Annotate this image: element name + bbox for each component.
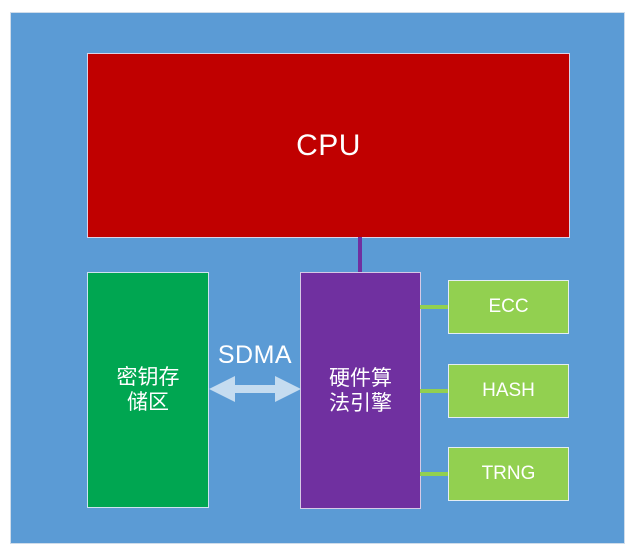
block-hardware-algorithm-engine-label-line2: 法引擎 bbox=[329, 391, 392, 415]
block-hardware-algorithm-engine-label-line1: 硬件算 bbox=[329, 366, 392, 390]
block-cpu[interactable]: CPU bbox=[87, 53, 570, 238]
connector-engine-to-trng bbox=[420, 472, 449, 476]
block-hash[interactable]: HASH bbox=[448, 364, 569, 418]
block-ecc[interactable]: ECC bbox=[448, 280, 569, 334]
connector-engine-to-hash bbox=[420, 389, 449, 393]
diagram-canvas: CPU 密钥存 储区 硬件算 法引擎 SDMA EC bbox=[0, 0, 639, 557]
block-trng-label: TRNG bbox=[482, 463, 536, 485]
diagram-frame: CPU 密钥存 储区 硬件算 法引擎 SDMA EC bbox=[11, 13, 624, 543]
sdma-connector-label: SDMA bbox=[207, 343, 303, 368]
block-hardware-algorithm-engine[interactable]: 硬件算 法引擎 bbox=[300, 272, 421, 509]
block-trng[interactable]: TRNG bbox=[448, 447, 569, 501]
connector-engine-to-ecc bbox=[420, 305, 449, 309]
block-key-storage[interactable]: 密钥存 储区 bbox=[87, 272, 209, 508]
block-hardware-algorithm-engine-label: 硬件算 法引擎 bbox=[329, 366, 392, 416]
block-key-storage-label-line1: 密钥存 bbox=[117, 365, 180, 389]
block-key-storage-label: 密钥存 储区 bbox=[117, 365, 180, 415]
block-ecc-label: ECC bbox=[488, 296, 528, 318]
block-hash-label: HASH bbox=[482, 380, 535, 402]
sdma-bidirectional-arrow-icon bbox=[209, 374, 301, 404]
connector-cpu-to-engine bbox=[358, 237, 362, 273]
block-key-storage-label-line2: 储区 bbox=[127, 390, 169, 414]
block-cpu-label: CPU bbox=[296, 128, 361, 163]
